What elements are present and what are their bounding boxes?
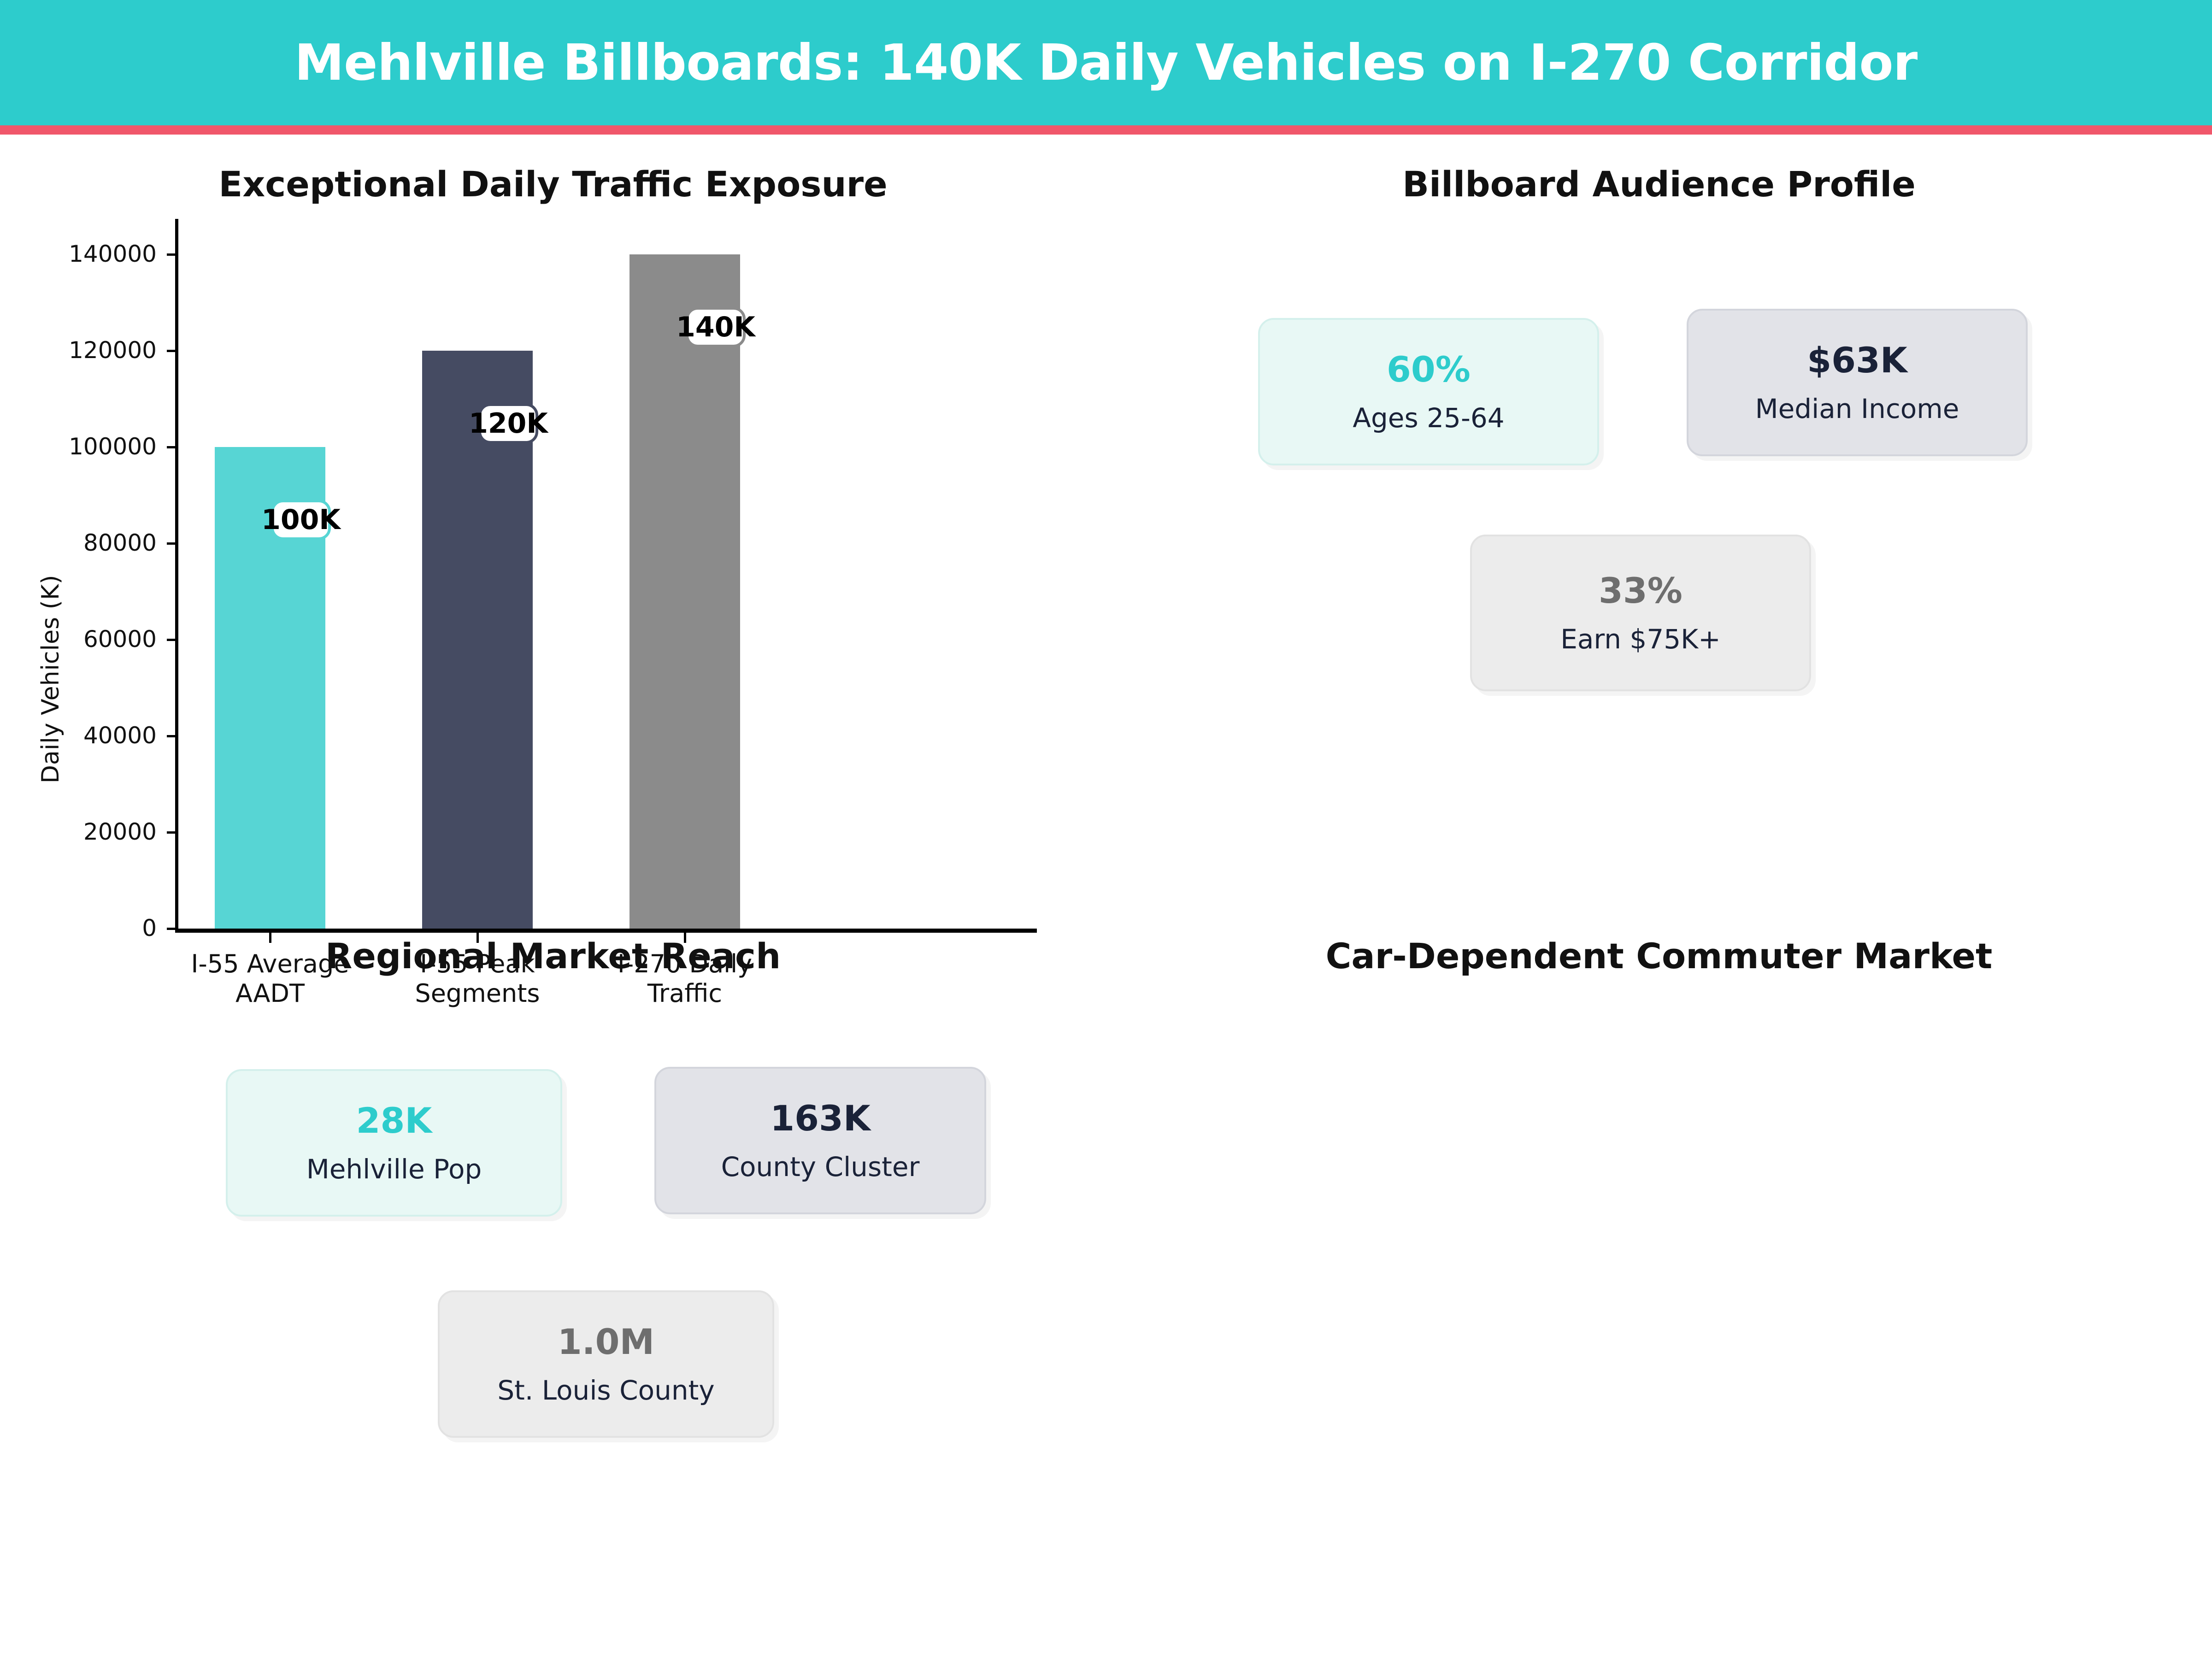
traffic-ytick-20000 — [167, 831, 176, 834]
kpi-value-mehlville-pop: 28K — [356, 1103, 432, 1138]
kpi-card-st-louis-county[interactable]: 1.0M St. Louis County — [438, 1290, 774, 1438]
traffic-chart-plot: Daily Vehicles (K) 0 20000 40000 60000 8… — [0, 138, 1106, 885]
traffic-bar-i270-daily-traffic[interactable] — [629, 254, 740, 929]
kpi-value-median-income: $63K — [1807, 343, 1907, 378]
kpi-label-median-income: Median Income — [1755, 395, 1959, 422]
panel-traffic-exposure: Exceptional Daily Traffic Exposure Daily… — [0, 138, 1106, 885]
traffic-ytick-label-20000: 20000 — [28, 818, 157, 845]
traffic-ytick-140000 — [167, 253, 176, 256]
commuter-ytick-label-20: 20 — [2180, 1388, 2212, 1415]
header-banner: Mehlville Billboards: 140K Daily Vehicle… — [0, 0, 2212, 125]
kpi-card-mehlville-pop[interactable]: 28K Mehlville Pop — [226, 1069, 562, 1217]
header-accent-rule — [0, 125, 2212, 135]
commuter-ytick-label-60: 60 — [2180, 1180, 2212, 1207]
kpi-label-earn-75k-plus: Earn $75K+ — [1560, 626, 1721, 653]
kpi-value-county-cluster: 163K — [770, 1101, 871, 1136]
kpi-value-ages-25-64: 60% — [1387, 352, 1471, 387]
panel-audience-profile: Billboard Audience Profile 60% Ages 25-6… — [1106, 138, 2212, 885]
traffic-value-badge-1: 120K — [478, 403, 538, 444]
kpi-label-county-cluster: County Cluster — [721, 1153, 920, 1180]
traffic-y-axis-title: Daily Vehicles (K) — [37, 575, 65, 783]
kpi-card-earn-75k-plus[interactable]: 33% Earn $75K+ — [1470, 535, 1811, 691]
commuter-chart-plot: Workers (%) 0 20 40 60 80 88% 78% 5% Com… — [1106, 885, 2212, 1659]
panel-title-reach: Regional Market Reach — [0, 935, 1106, 977]
traffic-value-badge-0: 100K — [271, 500, 331, 540]
panel-title-audience: Billboard Audience Profile — [1106, 164, 2212, 205]
traffic-ytick-label-100000: 100000 — [14, 433, 157, 460]
traffic-ytick-label-40000: 40000 — [28, 722, 157, 749]
kpi-value-st-louis-county: 1.0M — [558, 1324, 654, 1359]
traffic-ytick-100000 — [167, 446, 176, 448]
traffic-ytick-80000 — [167, 542, 176, 545]
kpi-card-median-income[interactable]: $63K Median Income — [1687, 309, 2028, 456]
traffic-ytick-120000 — [167, 350, 176, 352]
traffic-ytick-60000 — [167, 639, 176, 641]
panel-commuter-market: Car-Dependent Commuter Market Workers (%… — [1106, 885, 2212, 1659]
traffic-ytick-40000 — [167, 735, 176, 737]
commuter-ytick-label-80: 80 — [2180, 1076, 2212, 1103]
page-title: Mehlville Billboards: 140K Daily Vehicle… — [294, 34, 1918, 92]
traffic-ytick-label-80000: 80000 — [28, 529, 157, 556]
commuter-ytick-label-0: 0 — [2180, 1493, 2212, 1520]
traffic-ytick-label-140000: 140000 — [14, 241, 157, 267]
kpi-label-ages-25-64: Ages 25-64 — [1353, 405, 1504, 431]
kpi-value-earn-75k-plus: 33% — [1599, 573, 1683, 608]
commuter-ytick-label-40: 40 — [2180, 1284, 2212, 1311]
kpi-card-ages-25-64[interactable]: 60% Ages 25-64 — [1258, 318, 1599, 465]
kpi-card-county-cluster[interactable]: 163K County Cluster — [654, 1067, 986, 1214]
kpi-label-mehlville-pop: Mehlville Pop — [306, 1156, 482, 1182]
panel-regional-market-reach: Regional Market Reach 28K Mehlville Pop … — [0, 885, 1106, 1659]
traffic-value-badge-2: 140K — [686, 307, 746, 347]
traffic-ytick-label-120000: 120000 — [14, 337, 157, 364]
kpi-label-st-louis-county: St. Louis County — [497, 1377, 714, 1404]
traffic-ytick-label-60000: 60000 — [28, 626, 157, 653]
